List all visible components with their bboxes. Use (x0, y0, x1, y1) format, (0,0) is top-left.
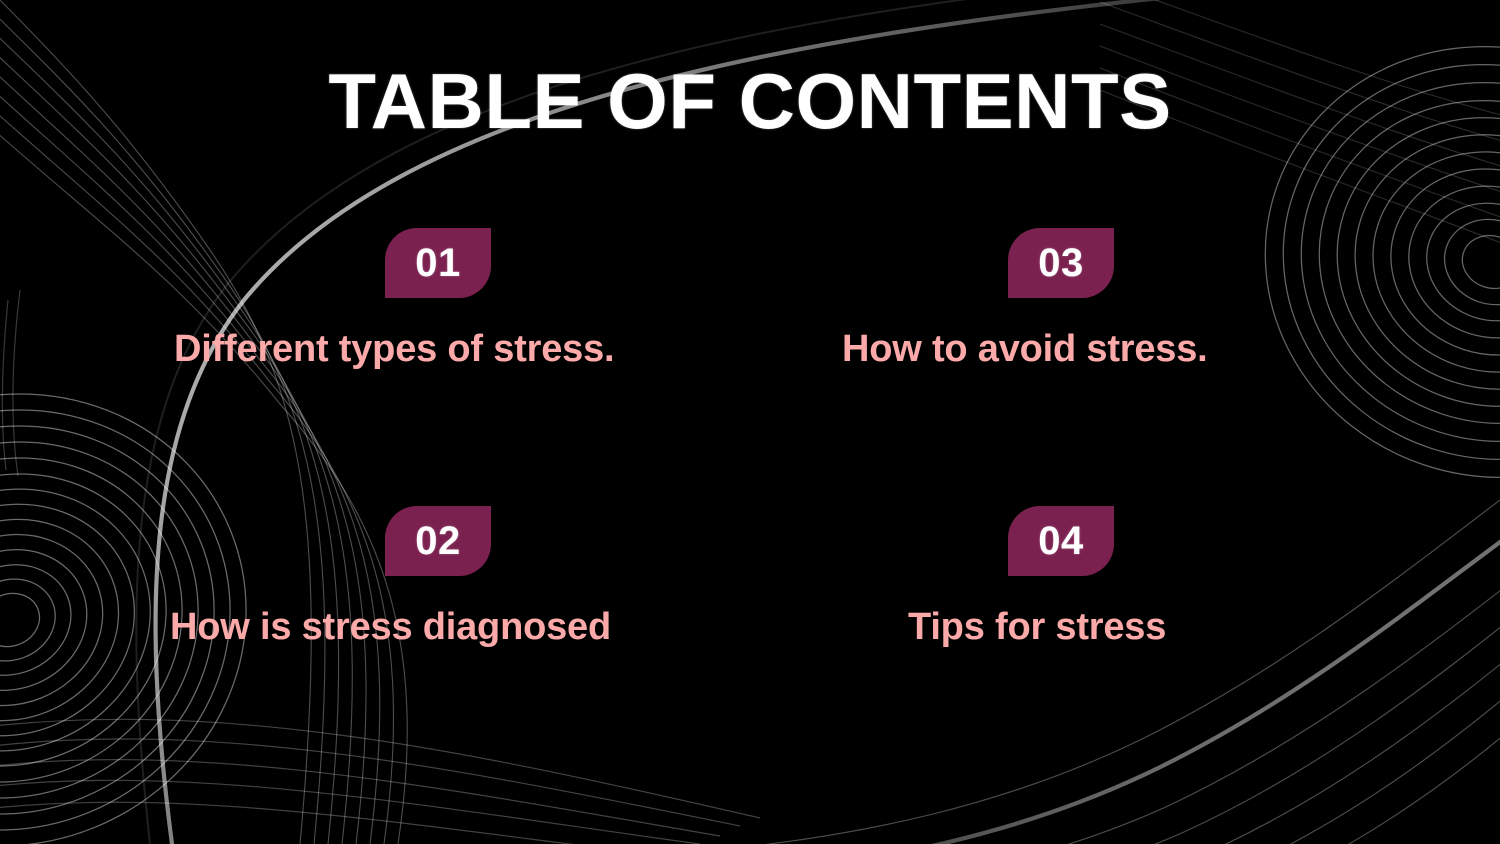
toc-label-04: Tips for stress (908, 606, 1430, 650)
toc-number-04: 04 (1038, 521, 1084, 561)
toc-number-badge-02: 02 (385, 506, 491, 576)
toc-label-01: Different types of stress. (174, 328, 760, 372)
toc-number-badge-04: 04 (1008, 506, 1114, 576)
page-title: TABLE OF CONTENTS (0, 62, 1500, 140)
toc-item-03[interactable]: 03 How to avoid stress. (830, 228, 1430, 372)
toc-label-02: How is stress diagnosed (170, 606, 760, 650)
toc-number-02: 02 (415, 521, 461, 561)
toc-number-03: 03 (1038, 243, 1084, 283)
toc-item-04[interactable]: 04 Tips for stress (830, 506, 1430, 650)
toc-number-badge-03: 03 (1008, 228, 1114, 298)
toc-number-01: 01 (415, 243, 461, 283)
toc-item-01[interactable]: 01 Different types of stress. (160, 228, 760, 372)
toc-item-02[interactable]: 02 How is stress diagnosed (160, 506, 760, 650)
left-edge-strokes (2, 290, 20, 476)
toc-label-03: How to avoid stress. (842, 328, 1430, 372)
bottom-arc-bundle (0, 719, 760, 844)
toc-number-badge-01: 01 (385, 228, 491, 298)
slide-table-of-contents: TABLE OF CONTENTS 01 Different types of … (0, 0, 1500, 844)
